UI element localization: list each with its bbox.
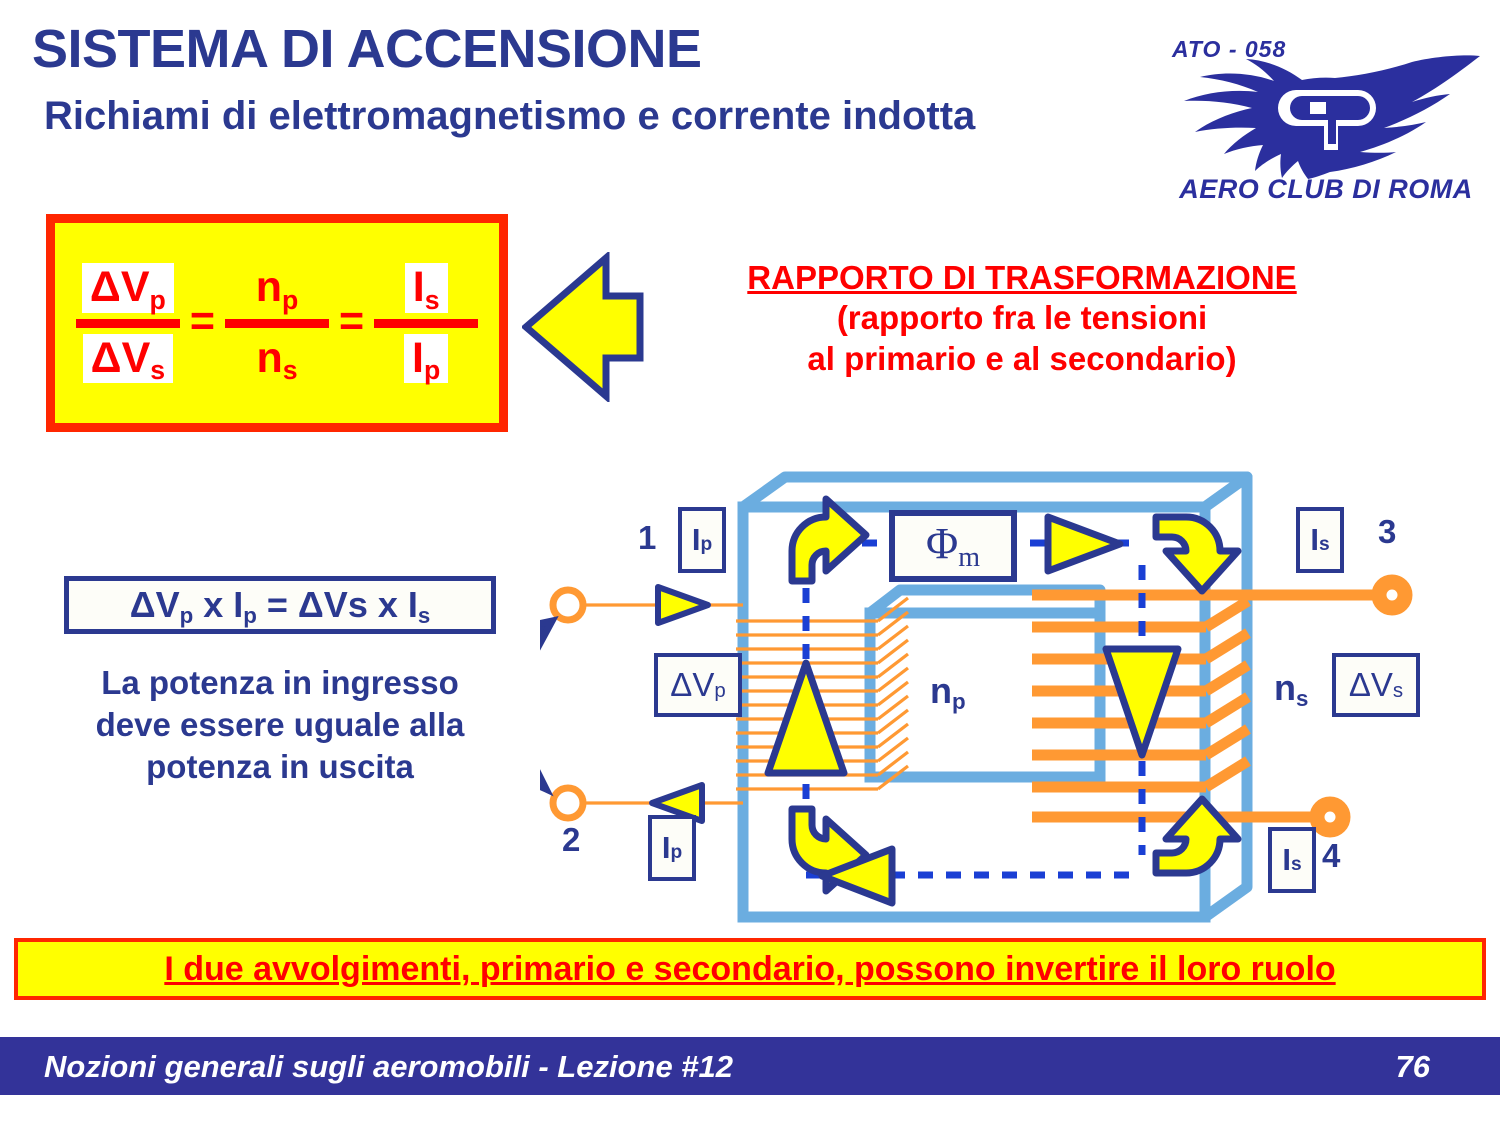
is-bottom-box: Is [1268, 827, 1316, 893]
dvp-box: ΔVp [654, 653, 742, 717]
slide-root: SISTEMA DI ACCENSIONE Richiami di elettr… [0, 0, 1500, 1125]
fraction-turns-denominator: ns [248, 334, 305, 383]
footer-page-number: 76 [1396, 1049, 1430, 1085]
left-block-arrow-icon [522, 252, 644, 402]
bottom-banner-text: I due avvolgimenti, primario e secondari… [164, 950, 1335, 989]
ns-label: ns [1274, 667, 1308, 709]
primary-in-triangle [658, 587, 708, 623]
dvs-box: ΔVs [1332, 653, 1420, 717]
ip-top-box: Ip [678, 507, 726, 573]
terminal-2-node [553, 788, 583, 818]
fraction-current: Is Ip [374, 263, 478, 382]
fraction-voltage: ΔVp ΔVs [76, 263, 180, 382]
fraction-turns-numerator: np [248, 263, 307, 312]
ratio-caption-line1: RAPPORTO DI TRASFORMAZIONE [672, 258, 1372, 298]
fraction-bar [225, 319, 329, 328]
page-title: SISTEMA DI ACCENSIONE [32, 18, 702, 80]
ratio-caption: RAPPORTO DI TRASFORMAZIONE (rapporto fra… [672, 258, 1372, 379]
terminal-4-node [1317, 804, 1343, 830]
fraction-current-numerator: Is [405, 263, 448, 312]
np-label: np [930, 670, 966, 712]
fraction-turns: np ns [225, 263, 329, 382]
aero-club-logo: ATO - 058 AERO CLUB DI ROMA [1152, 14, 1492, 219]
eagle-logo-icon [1162, 54, 1492, 179]
ip-bottom-box: Ip [648, 815, 696, 881]
formula-row: ΔVp ΔVs = np ns = Is Ip [55, 223, 499, 423]
is-top-box: Is [1296, 507, 1344, 573]
terminal-1-label: 1 [638, 519, 656, 557]
footer-bar: Nozioni generali sugli aeromobili - Lezi… [0, 1037, 1500, 1095]
fraction-voltage-numerator: ΔVp [82, 263, 174, 312]
ac-source-arrows [540, 621, 552, 789]
ratio-caption-line2: (rapporto fra le tensioni [672, 298, 1372, 338]
terminal-3-label: 3 [1378, 513, 1396, 551]
transformation-ratio-formula-box: ΔVp ΔVs = np ns = Is Ip [46, 214, 508, 432]
terminal-2-label: 2 [562, 821, 580, 859]
footer-title: Nozioni generali sugli aeromobili - Lezi… [44, 1049, 733, 1085]
bottom-banner: I due avvolgimenti, primario e secondari… [14, 938, 1486, 1000]
fraction-bar [76, 319, 180, 328]
equals-sign-2: = [339, 297, 364, 350]
terminal-3-node [1379, 582, 1405, 608]
power-equation-text: ΔVp x Ip = ΔVs x Is [130, 584, 431, 626]
fraction-voltage-denominator: ΔVs [83, 334, 173, 383]
transformer-diagram: Φm [540, 455, 1500, 935]
equals-sign-1: = [190, 297, 215, 350]
club-name-label: AERO CLUB DI ROMA [1166, 174, 1486, 205]
ratio-caption-line3: al primario e al secondario) [672, 339, 1372, 379]
page-subtitle: Richiami di elettromagnetismo e corrente… [44, 94, 975, 139]
fraction-current-denominator: Ip [404, 334, 448, 383]
secondary-current-triangle [1106, 649, 1178, 755]
power-note-text: La potenza in ingresso deve essere ugual… [64, 662, 496, 789]
fraction-bar [374, 319, 478, 328]
terminal-4-label: 4 [1322, 837, 1340, 875]
terminal-1-node [553, 590, 583, 620]
power-equation-box: ΔVp x Ip = ΔVs x Is [64, 576, 496, 634]
